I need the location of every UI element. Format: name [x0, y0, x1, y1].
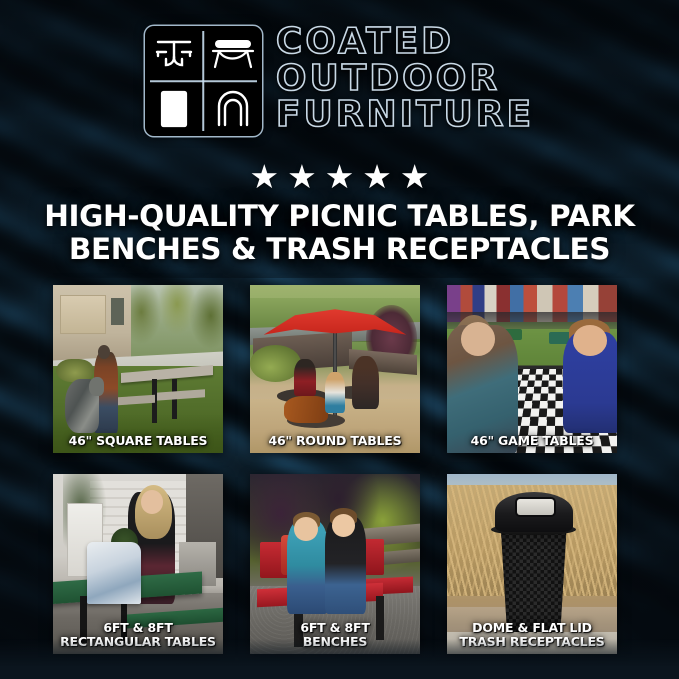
- brand-name-line-2: OUTDOOR: [276, 61, 500, 98]
- bike-rack-icon: [203, 81, 262, 136]
- star-icon: ★: [325, 160, 355, 193]
- category-tile-round-tables[interactable]: 46" ROUND TABLES: [250, 285, 420, 453]
- star-rating: ★ ★ ★ ★ ★: [0, 160, 679, 193]
- star-icon: ★: [250, 160, 280, 193]
- logo-mark-icon: [145, 26, 262, 136]
- square-tables-photo: [53, 285, 223, 453]
- category-tile-rectangular-tables[interactable]: 6FT & 8FT RECTANGULAR TABLES: [53, 474, 223, 654]
- product-banner: COATED OUTDOOR FURNITURE ★ ★ ★ ★ ★ HIGH-…: [0, 0, 679, 679]
- tile-caption: 46" ROUND TABLES: [254, 434, 416, 448]
- bench-icon: [203, 26, 262, 81]
- headline: HIGH-QUALITY PICNIC TABLES, PARK BENCHES…: [28, 200, 651, 267]
- round-tables-photo: [250, 285, 420, 453]
- tile-caption: 46" SQUARE TABLES: [57, 434, 219, 448]
- category-tile-trash-receptacles[interactable]: DOME & FLAT LID TRASH RECEPTACLES: [447, 474, 617, 654]
- tile-caption-line-1: DOME & FLAT LID: [451, 621, 613, 635]
- bottom-fade: [0, 639, 679, 679]
- banner-content: COATED OUTDOOR FURNITURE ★ ★ ★ ★ ★ HIGH-…: [0, 0, 679, 679]
- category-tile-square-tables[interactable]: 46" SQUARE TABLES: [53, 285, 223, 453]
- brand-logo: COATED OUTDOOR FURNITURE: [0, 26, 679, 136]
- category-tile-game-tables[interactable]: 46" GAME TABLES: [447, 285, 617, 453]
- brand-name-line-3: FURNITURE: [276, 97, 534, 134]
- brand-name-line-1: COATED: [276, 24, 454, 61]
- tile-caption: 46" GAME TABLES: [451, 434, 613, 448]
- trash-receptacle-icon: [145, 81, 204, 136]
- tile-caption-line-1: 46" SQUARE TABLES: [57, 434, 219, 448]
- star-icon: ★: [362, 160, 392, 193]
- tile-caption-line-1: 46" ROUND TABLES: [254, 434, 416, 448]
- star-icon: ★: [287, 160, 317, 193]
- star-icon: ★: [400, 160, 430, 193]
- headline-line-2: BENCHES & TRASH RECEPTACLES: [28, 233, 651, 266]
- tile-caption-line-1: 6FT & 8FT: [57, 621, 219, 635]
- game-tables-photo: [447, 285, 617, 453]
- picnic-table-icon: [145, 26, 204, 81]
- tile-caption-line-1: 46" GAME TABLES: [451, 434, 613, 448]
- brand-wordmark: COATED OUTDOOR FURNITURE: [276, 24, 534, 134]
- category-tile-benches[interactable]: 6FT & 8FT BENCHES: [250, 474, 420, 654]
- headline-line-1: HIGH-QUALITY PICNIC TABLES, PARK: [28, 200, 651, 233]
- product-category-grid: 46" SQUARE TABLES 46" ROUND TABLES: [53, 285, 626, 654]
- tile-caption-line-1: 6FT & 8FT: [254, 621, 416, 635]
